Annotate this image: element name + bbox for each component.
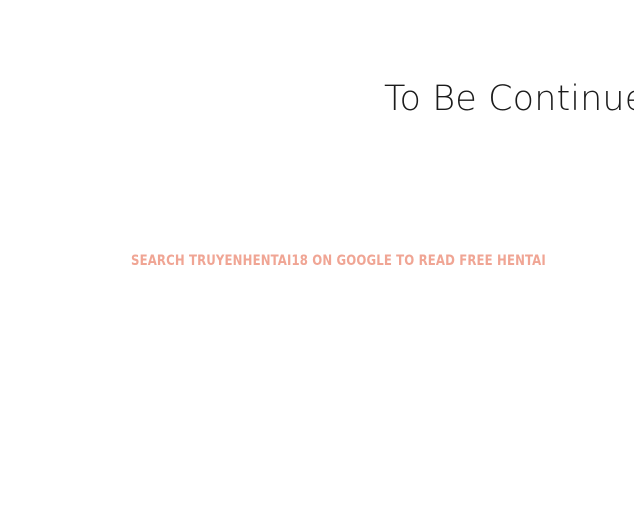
page-title: To Be Continued xyxy=(384,79,620,119)
site-promo-watermark: SEARCH TRUYENHENTAI18 ON GOOGLE TO READ … xyxy=(131,253,484,269)
comic-page-canvas: To Be Continued SEARCH TRUYENHENTAI18 ON… xyxy=(0,0,634,527)
